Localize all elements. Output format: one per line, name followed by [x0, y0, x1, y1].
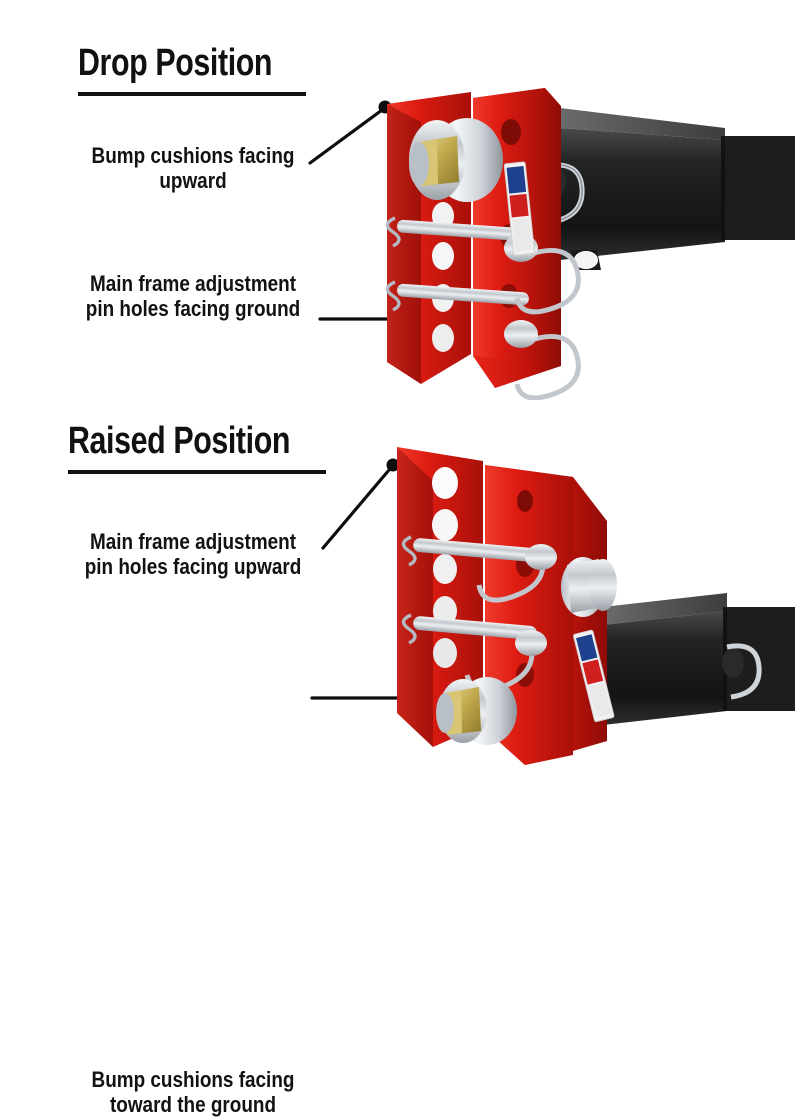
callout-raised-pinholes-line1: Main frame adjustment: [77, 530, 309, 555]
callout-raised-pinholes-line2: pin holes facing upward: [77, 555, 309, 580]
callout-raised-pin-holes: Main frame adjustment pin holes facing u…: [58, 530, 328, 579]
callout-raised-bump-line2: toward the ground: [86, 1093, 301, 1117]
bump-cushion-raised: [436, 677, 517, 745]
callout-drop-pinholes-line2: pin holes facing ground: [77, 297, 309, 322]
drop-position-title: Drop Position: [78, 44, 272, 82]
receiver-shank-drop: [540, 108, 795, 270]
section-raised-position: Raised Position Main frame adjustment pi…: [0, 400, 800, 800]
raised-position-title: Raised Position: [68, 422, 290, 460]
callout-raised-bump-cushions: Bump cushions facing toward the ground: [68, 1068, 318, 1117]
product-photo-raised-position: [375, 425, 795, 775]
callout-drop-bump-line2: upward: [86, 169, 301, 194]
section-drop-position: Drop Position Bump cushions facing upwar…: [0, 0, 800, 400]
product-photo-drop-position: [375, 70, 795, 400]
callout-drop-bump-cushions: Bump cushions facing upward: [68, 144, 318, 193]
callout-drop-pin-holes: Main frame adjustment pin holes facing g…: [58, 272, 328, 321]
callout-drop-bump-line1: Bump cushions facing: [86, 144, 301, 169]
callout-raised-bump-line1: Bump cushions facing: [86, 1068, 301, 1093]
bump-cushion-drop: [409, 118, 503, 202]
drop-position-title-underline: [78, 92, 306, 96]
raised-position-title-underline: [68, 470, 326, 474]
pivot-bolt-raised: [561, 557, 617, 617]
receiver-shank-raised: [603, 593, 795, 725]
callout-drop-pinholes-line1: Main frame adjustment: [77, 272, 309, 297]
